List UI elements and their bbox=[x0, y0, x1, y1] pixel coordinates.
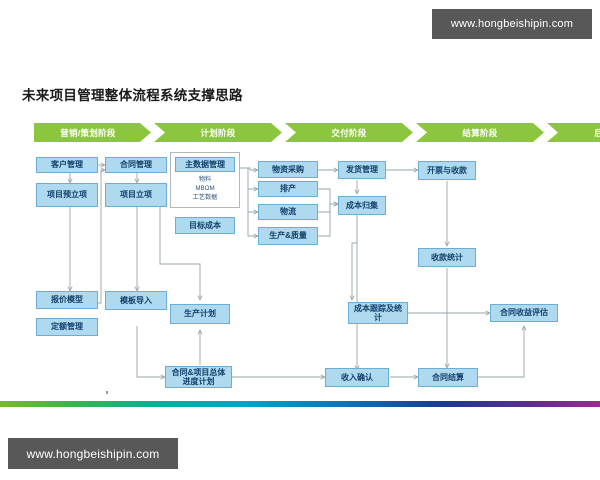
master-data-sublist: 物料MBOM工艺数据 bbox=[175, 176, 235, 203]
node-label: 主数据管理 bbox=[185, 160, 225, 169]
phase-chevron-3[interactable]: 结算阶段 bbox=[416, 123, 544, 142]
node-label: 项目立项 bbox=[120, 190, 152, 199]
node-logistics[interactable]: 物流 bbox=[258, 204, 318, 220]
phase-chevron-0[interactable]: 营销/策划阶段 bbox=[34, 123, 151, 142]
phase-label-0: 营销/策划阶段 bbox=[60, 127, 115, 139]
phase-chevron-band: 营销/策划阶段 计划阶段 交付阶段 结算阶段 后评价 bbox=[34, 123, 600, 142]
node-label: 定额管理 bbox=[51, 322, 83, 331]
node-template-import[interactable]: 模板导入 bbox=[105, 291, 167, 310]
bottom-gradient-bar bbox=[0, 401, 600, 407]
sublist-line: 工艺数据 bbox=[175, 194, 235, 203]
node-label: 生产计划 bbox=[184, 309, 216, 318]
sublist-line: 物料 bbox=[175, 176, 235, 185]
node-label: 排产 bbox=[280, 184, 296, 193]
node-contract-settle[interactable]: 合同结算 bbox=[418, 368, 478, 387]
watermark-top: www.hongbeishipin.com bbox=[432, 9, 592, 39]
phase-label-4: 后评价 bbox=[594, 127, 600, 139]
phase-chevron-1[interactable]: 计划阶段 bbox=[154, 123, 282, 142]
sublist-line: MBOM bbox=[175, 185, 235, 194]
node-label: 发货管理 bbox=[346, 165, 378, 174]
phase-label-3: 结算阶段 bbox=[462, 127, 497, 139]
phase-chevron-4[interactable]: 后评价 bbox=[547, 123, 600, 142]
node-production-schedule[interactable]: 排产 bbox=[258, 181, 318, 197]
node-cost-collection[interactable]: 成本归集 bbox=[338, 196, 386, 215]
node-label: 合同结算 bbox=[432, 373, 464, 382]
node-label: 客户管理 bbox=[51, 160, 83, 169]
node-label: 目标成本 bbox=[189, 221, 221, 230]
watermark-bottom: www.hongbeishipin.com bbox=[8, 438, 178, 469]
node-overall-schedule[interactable]: 合同&项目总体进度计划 bbox=[165, 366, 232, 388]
node-revenue-confirm[interactable]: 收入确认 bbox=[325, 368, 389, 387]
node-label: 物流 bbox=[280, 207, 296, 216]
node-production-quality[interactable]: 生产&质量 bbox=[258, 227, 318, 245]
node-project-setup[interactable]: 项目立项 bbox=[105, 183, 167, 207]
phase-label-1: 计划阶段 bbox=[200, 127, 235, 139]
page-title: 未来项目管理整体流程系统支撑思路 bbox=[22, 84, 243, 104]
node-cost-tracking[interactable]: 成本跟踪及统计 bbox=[348, 302, 408, 324]
node-label: 合同收益评估 bbox=[500, 308, 548, 317]
node-receipt-stats[interactable]: 收款统计 bbox=[418, 248, 476, 267]
page-marker-dot bbox=[106, 391, 108, 394]
node-label: 成本归集 bbox=[346, 201, 378, 210]
phase-label-2: 交付阶段 bbox=[331, 127, 366, 139]
phase-chevron-2[interactable]: 交付阶段 bbox=[285, 123, 413, 142]
node-label: 合同管理 bbox=[120, 160, 152, 169]
node-material-purchase[interactable]: 物资采购 bbox=[258, 161, 318, 178]
node-contract-benefit[interactable]: 合同收益评估 bbox=[490, 304, 558, 322]
node-delivery-mgmt[interactable]: 发货管理 bbox=[338, 161, 386, 179]
node-production-plan[interactable]: 生产计划 bbox=[170, 304, 230, 324]
node-label: 模板导入 bbox=[120, 296, 152, 305]
node-label: 项目预立项 bbox=[47, 190, 87, 199]
node-invoice-receipt[interactable]: 开票与收款 bbox=[418, 161, 476, 180]
node-label: 报价模型 bbox=[51, 295, 83, 304]
node-label: 成本跟踪及统计 bbox=[351, 304, 405, 322]
node-label: 合同&项目总体进度计划 bbox=[168, 368, 229, 386]
node-target-cost[interactable]: 目标成本 bbox=[175, 217, 235, 234]
node-quote-model[interactable]: 报价模型 bbox=[36, 291, 98, 309]
node-label: 开票与收款 bbox=[427, 166, 467, 175]
node-label: 生产&质量 bbox=[269, 231, 307, 240]
node-label: 收入确认 bbox=[341, 373, 373, 382]
node-quota-mgmt[interactable]: 定额管理 bbox=[36, 318, 98, 336]
node-master-data[interactable]: 主数据管理 bbox=[175, 157, 235, 172]
node-customer-mgmt[interactable]: 客户管理 bbox=[36, 157, 98, 173]
node-contract-mgmt[interactable]: 合同管理 bbox=[105, 157, 167, 173]
node-label: 物资采购 bbox=[272, 165, 304, 174]
node-label: 收款统计 bbox=[431, 253, 463, 262]
node-project-pre[interactable]: 项目预立项 bbox=[36, 183, 98, 207]
slide-canvas: www.hongbeishipin.com 未来项目管理整体流程系统支撑思路 营… bbox=[0, 0, 600, 480]
